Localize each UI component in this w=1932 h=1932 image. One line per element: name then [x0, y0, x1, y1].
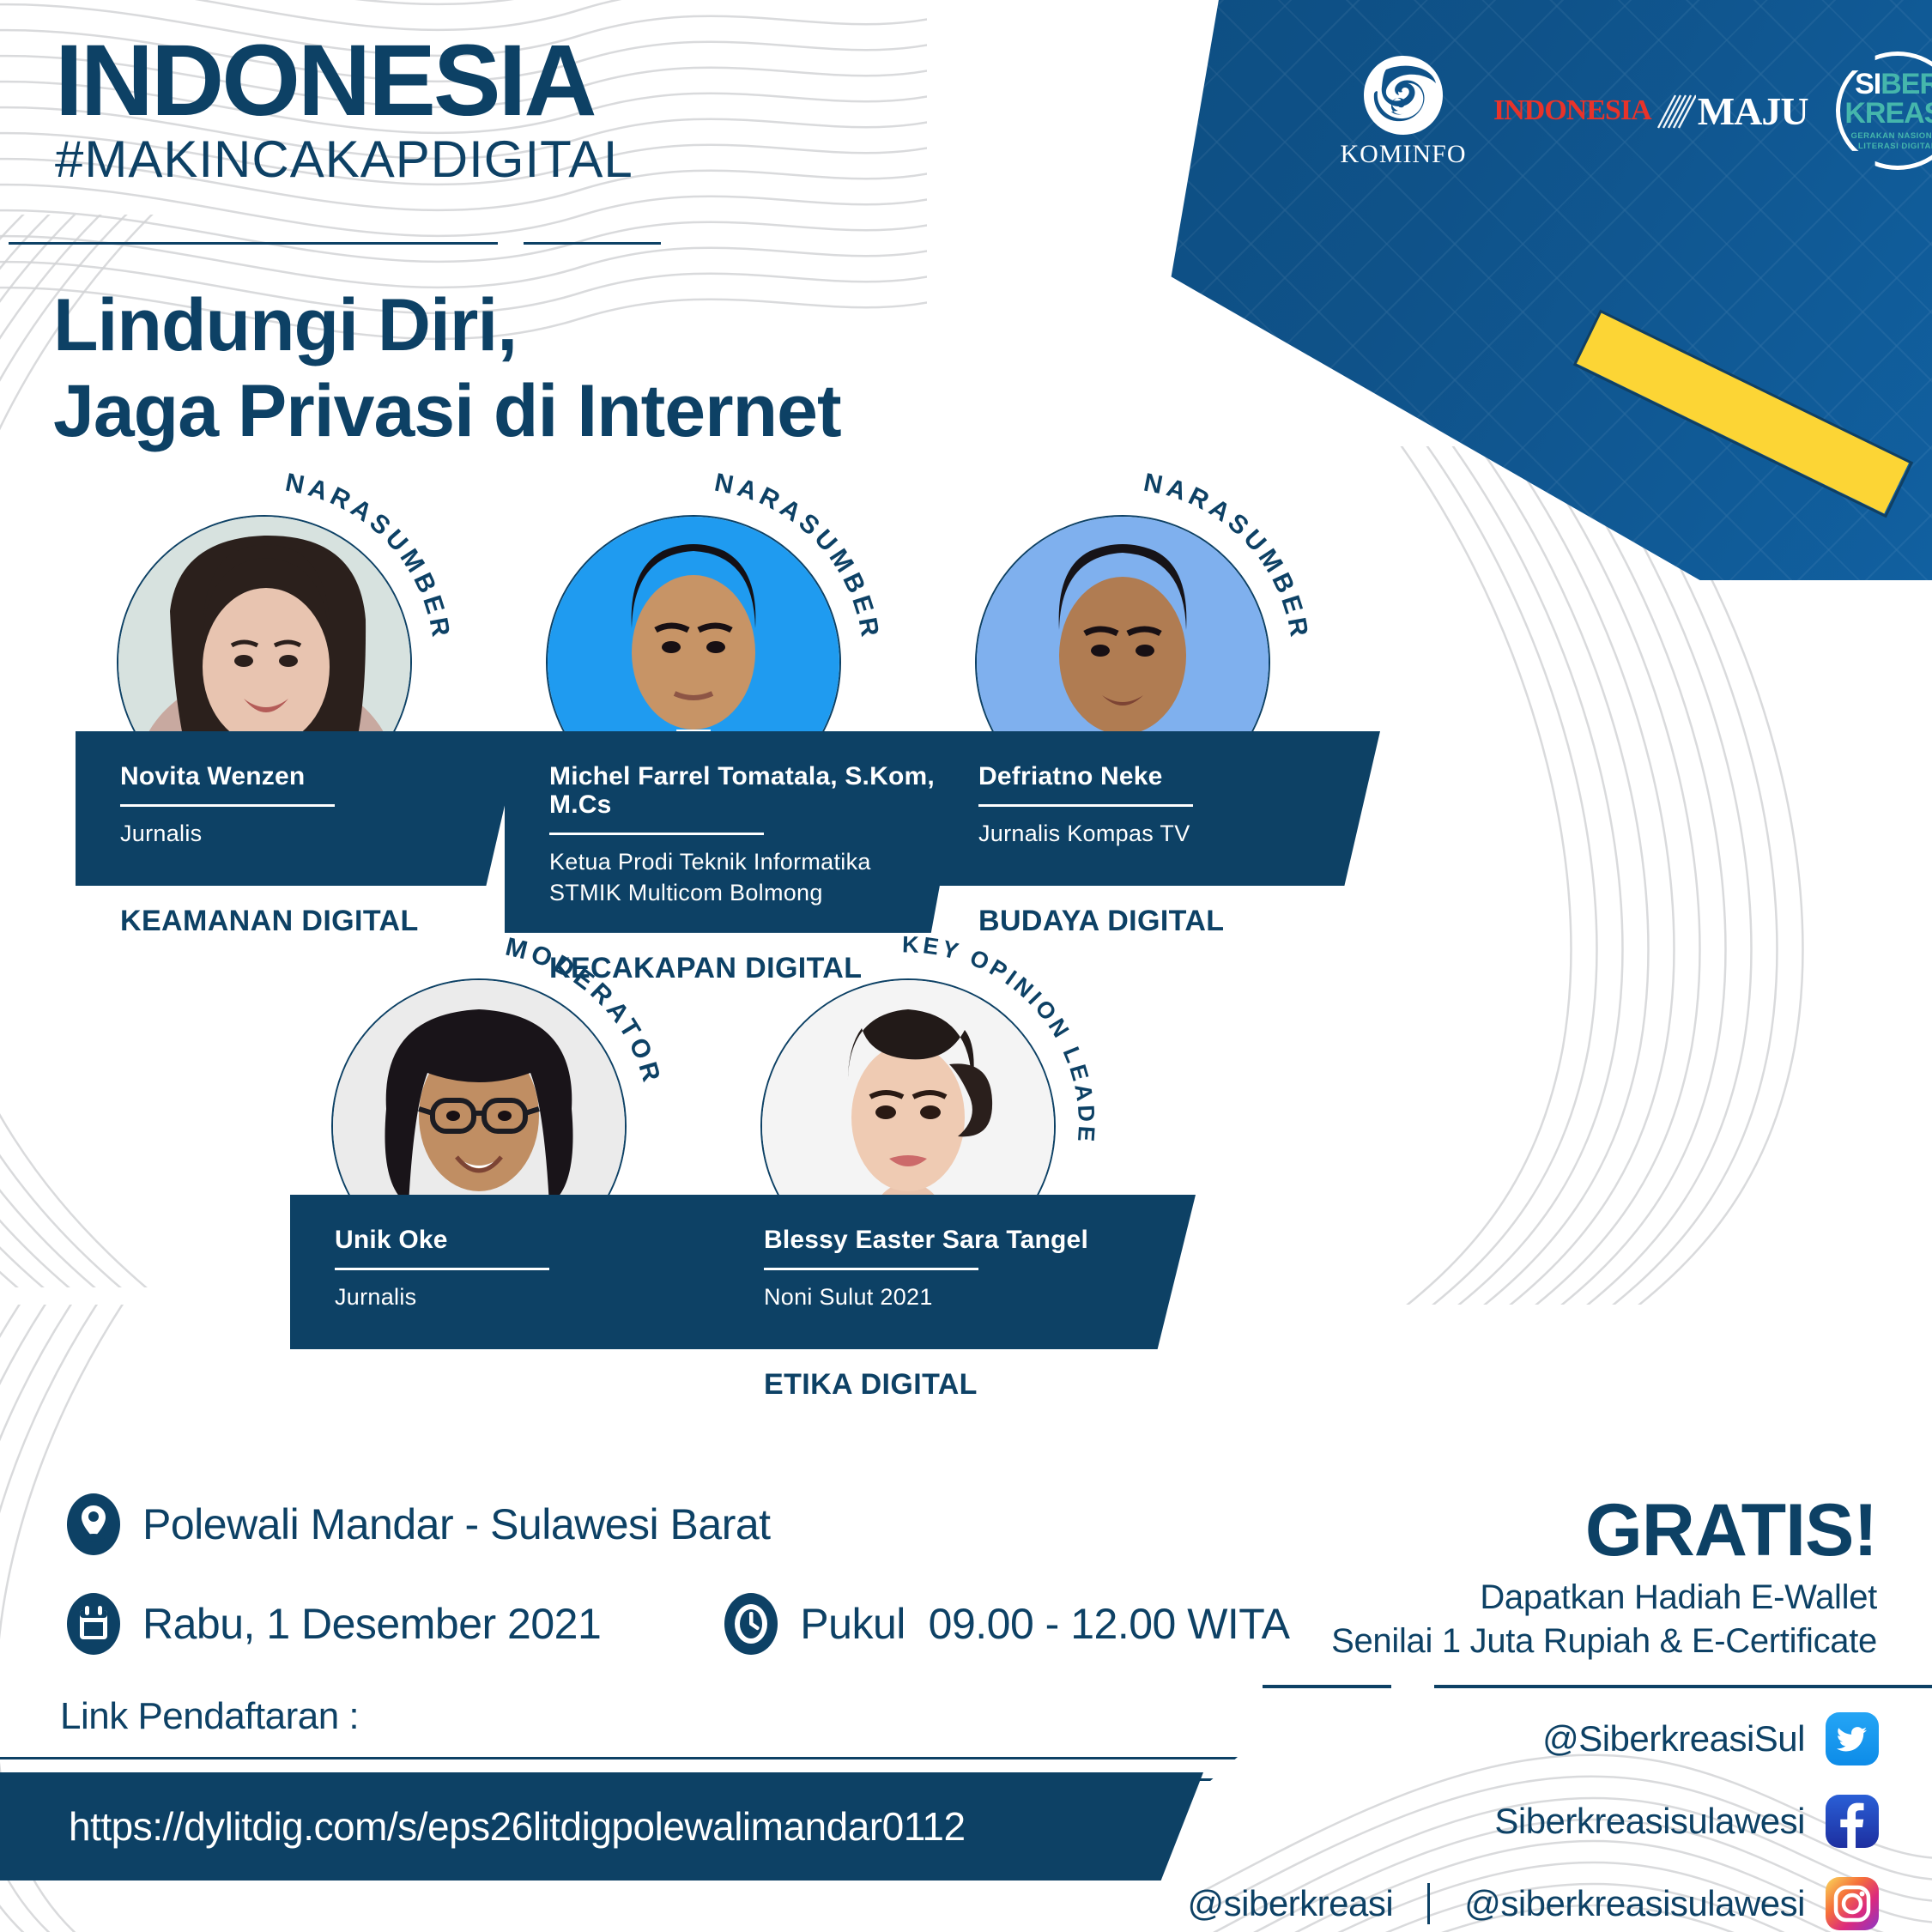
title-line-2: Jaga Privasi di Internet	[53, 369, 841, 455]
speaker-role-title: Jurnalis Kompas TV	[978, 819, 1380, 850]
speaker-role-title: Noni Sulut 2021	[764, 1282, 1196, 1313]
facebook-handle[interactable]: Siberkreasisulawesi	[1494, 1801, 1805, 1842]
logo-strip: KOMINFO INDONESIA MAJU SIBER KREASI GE	[1339, 50, 1932, 172]
speaker-name: Novita Wenzen	[120, 762, 522, 790]
header-divider	[9, 242, 661, 245]
promo-block: GRATIS! Dapatkan Hadiah E-Wallet Senilai…	[1225, 1493, 1877, 1663]
speaker-role-title: Jurnalis	[335, 1282, 758, 1313]
speaker-name: Blessy Easter Sara Tangel	[764, 1226, 1196, 1254]
speaker-category: BUDAYA DIGITAL	[978, 905, 1466, 938]
promo-headline: GRATIS!	[1225, 1493, 1877, 1567]
speaker-role-title: Ketua Prodi Teknik Informatika STMIK Mul…	[549, 847, 968, 909]
registration-bar[interactable]: https://dylitdig.com/s/eps26litdigpolewa…	[0, 1772, 1203, 1881]
instagram-handle-a[interactable]: @siberkreasi	[1188, 1883, 1394, 1924]
nameplate-rule	[978, 804, 1193, 807]
event-time: Pukul 09.00 - 12.00 WITA	[800, 1599, 1289, 1649]
social-row-instagram[interactable]: @siberkreasi @siberkreasisulawesi	[1175, 1877, 1879, 1930]
promo-sub-line-1: Dapatkan Hadiah E-Wallet	[1225, 1576, 1877, 1620]
kominfo-globe-icon	[1360, 52, 1446, 138]
handle-divider	[1427, 1883, 1430, 1924]
nameplate-rule	[764, 1268, 978, 1270]
event-info: Polewali Mandar - Sulawesi Barat Rabu, 1…	[67, 1493, 1290, 1693]
event-time-label: Pukul	[800, 1600, 905, 1648]
speaker-role-title: Jurnalis	[120, 819, 522, 850]
event-location-row: Polewali Mandar - Sulawesi Barat	[67, 1493, 1290, 1555]
clock-icon	[724, 1593, 778, 1655]
speaker-name: Defriatno Neke	[978, 762, 1380, 790]
brand-indonesia: INDONESIA	[55, 33, 633, 129]
twitter-handle[interactable]: @SiberkreasiSul	[1542, 1718, 1805, 1759]
promo-subtext: Dapatkan Hadiah E-Wallet Senilai 1 Juta …	[1225, 1576, 1877, 1663]
speaker-nameplate: Unik Oke Jurnalis	[290, 1195, 758, 1349]
poster-canvas: KOMINFO INDONESIA MAJU SIBER KREASI GE	[0, 0, 1932, 1932]
instagram-icon[interactable]	[1826, 1877, 1879, 1930]
kominfo-label: KOMINFO	[1340, 140, 1466, 169]
facebook-icon[interactable]	[1826, 1795, 1879, 1848]
event-datetime-row: Rabu, 1 Desember 2021 Pukul 09.00 - 12.0…	[67, 1593, 1290, 1655]
siberkreasi-line2: KREASI	[1844, 99, 1932, 130]
campaign-branding: INDONESIA #MAKINCAKAPDIGITAL	[55, 33, 633, 186]
social-row-twitter[interactable]: @SiberkreasiSul	[1175, 1712, 1879, 1765]
promo-divider	[1263, 1685, 1932, 1688]
siberkreasi-si: SI	[1855, 68, 1881, 100]
nameplate-rule	[335, 1268, 549, 1270]
registration-label: Link Pendaftaran :	[60, 1695, 359, 1738]
indonesia-maju-white-text: MAJU	[1698, 88, 1808, 134]
kol-card: KEY OPINION LEADER Blessy Easter Sara Ta…	[719, 978, 1251, 1402]
location-pin-icon	[67, 1493, 120, 1555]
social-links: @SiberkreasiSul Siberkreasisulawesi @sib…	[1175, 1712, 1879, 1932]
instagram-handle-b[interactable]: @siberkreasisulawesi	[1464, 1883, 1805, 1924]
speaker-nameplate: Novita Wenzen Jurnalis	[76, 731, 522, 886]
twitter-icon[interactable]	[1826, 1712, 1879, 1765]
siberkreasi-tagline: GERAKAN NASIONAL LITERASI DIGITAL	[1850, 131, 1932, 152]
indonesia-maju-logo: INDONESIA MAJU	[1493, 88, 1808, 134]
speaker-nameplate: Blessy Easter Sara Tangel Noni Sulut 202…	[719, 1195, 1196, 1349]
speaker-name: Unik Oke	[335, 1226, 758, 1254]
siberkreasi-logo: SIBER KREASI GERAKAN NASIONAL LITERASI D…	[1834, 50, 1932, 172]
calendar-icon	[67, 1593, 120, 1655]
social-row-facebook[interactable]: Siberkreasisulawesi	[1175, 1795, 1879, 1848]
promo-sub-line-2: Senilai 1 Juta Rupiah & E-Certificate	[1225, 1620, 1877, 1663]
speaker-name: Michel Farrel Tomatala, S.Kom, M.Cs	[549, 762, 968, 819]
kominfo-logo: KOMINFO	[1339, 52, 1468, 169]
event-date: Rabu, 1 Desember 2021	[142, 1599, 601, 1649]
speaker-card: NARASUMBER Defriatno Neke Jurnalis Kompa…	[934, 515, 1466, 938]
brand-hashtag: #MAKINCAKAPDIGITAL	[55, 132, 633, 186]
page-title: Lindungi Diri, Jaga Privasi di Internet	[53, 283, 841, 455]
siberkreasi-line1: SIBER	[1855, 70, 1932, 99]
indonesia-maju-red-text: INDONESIA	[1493, 94, 1651, 127]
nameplate-rule	[549, 833, 764, 835]
speaker-nameplate: Michel Farrel Tomatala, S.Kom, M.Cs Ketu…	[505, 731, 968, 933]
indonesia-maju-stripes-icon	[1653, 88, 1696, 133]
event-time-group: Pukul 09.00 - 12.00 WITA	[724, 1593, 1289, 1655]
event-date-group: Rabu, 1 Desember 2021	[67, 1593, 601, 1655]
title-line-1: Lindungi Diri,	[53, 283, 841, 369]
speaker-nameplate: Defriatno Neke Jurnalis Kompas TV	[934, 731, 1380, 886]
siberkreasi-ber: BER	[1881, 68, 1932, 100]
speaker-category: ETIKA DIGITAL	[764, 1368, 1251, 1402]
registration-url[interactable]: https://dylitdig.com/s/eps26litdigpolewa…	[69, 1803, 966, 1850]
nameplate-rule	[120, 804, 335, 807]
event-location: Polewali Mandar - Sulawesi Barat	[142, 1499, 771, 1549]
